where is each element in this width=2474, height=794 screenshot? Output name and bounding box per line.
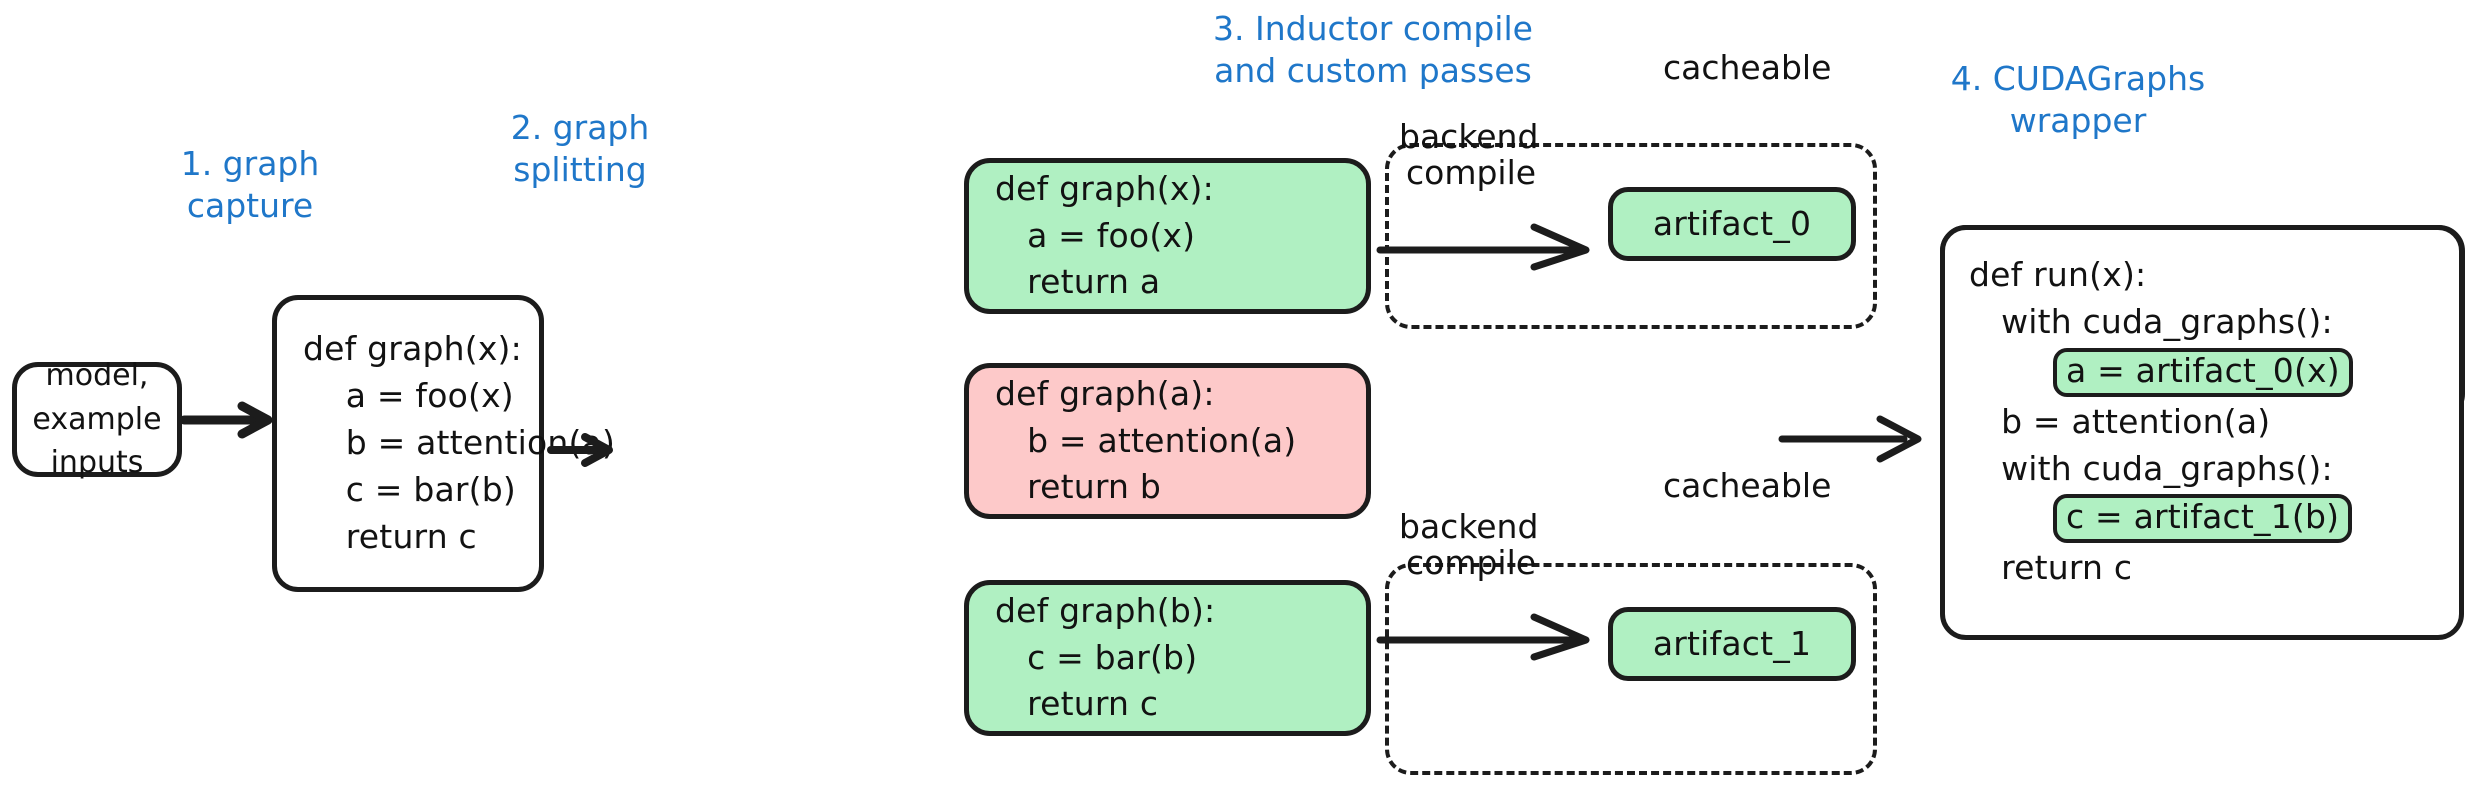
runtime-line-attention: b = attention(a): [1945, 399, 2459, 446]
node-subgraph-foo-line-3: return a: [969, 259, 1366, 306]
arrow-to-runtime: [1782, 409, 1942, 469]
runtime-highlight-row-2: c = artifact_1(b): [1945, 492, 2459, 545]
runtime-line-artifact-1-call: c = artifact_1(b): [2053, 494, 2352, 543]
node-subgraph-foo-line-2: a = foo(x): [969, 213, 1366, 260]
diagram-canvas: 1. graph capture 2. graph splitting 3. I…: [0, 0, 2474, 794]
node-artifact-0-label: artifact_0: [1613, 201, 1851, 248]
node-full-graph-line-3: b = attention(a): [277, 420, 539, 467]
node-subgraph-bar-line-1: def graph(b):: [969, 588, 1366, 635]
node-subgraph-attention-line-1: def graph(a):: [969, 371, 1366, 418]
edge-label-compile-top: compile: [1406, 153, 1536, 192]
node-subgraph-attention-line-3: return b: [969, 464, 1366, 511]
runtime-line-with-cudagraphs-1: with cuda_graphs():: [1945, 299, 2459, 346]
node-model-example-inputs-text: model, example inputs: [17, 354, 177, 485]
node-model-example-inputs: model, example inputs: [12, 362, 182, 477]
node-artifact-0: artifact_0: [1608, 187, 1856, 261]
node-subgraph-attention-line-2: b = attention(a): [969, 418, 1366, 465]
node-artifact-1-label: artifact_1: [1613, 621, 1851, 668]
node-subgraph-attention: def graph(a): b = attention(a) return b: [964, 363, 1371, 519]
runtime-line-return: return c: [1945, 545, 2459, 592]
stage-label-inductor-compile: 3. Inductor compile and custom passes: [1158, 8, 1588, 92]
node-artifact-1: artifact_1: [1608, 607, 1856, 681]
edge-label-backend-bottom: backend: [1399, 507, 1538, 546]
node-full-graph: def graph(x): a = foo(x) b = attention(a…: [272, 295, 544, 592]
stage-label-graph-splitting: 2. graph splitting: [480, 107, 680, 191]
runtime-highlight-row-1: a = artifact_0(x): [1945, 346, 2459, 399]
stage-label-cudagraphs-wrapper: 4. CUDAGraphs wrapper: [1878, 58, 2278, 142]
edge-label-backend-top: backend: [1399, 117, 1538, 156]
node-subgraph-bar-line-3: return c: [969, 681, 1366, 728]
runtime-line-artifact-0-call: a = artifact_0(x): [2053, 348, 2353, 397]
group-cacheable-top-label: cacheable: [1663, 48, 1831, 87]
runtime-line-with-cudagraphs-2: with cuda_graphs():: [1945, 446, 2459, 493]
node-runtime-final: def run(x): with cuda_graphs(): a = arti…: [1940, 225, 2464, 640]
node-subgraph-foo: def graph(x): a = foo(x) return a: [964, 158, 1371, 314]
group-cacheable-bottom-label: cacheable: [1663, 466, 1831, 505]
node-full-graph-line-4: c = bar(b): [277, 467, 539, 514]
arrow-input-to-fullgraph: [184, 400, 280, 440]
node-subgraph-bar-line-2: c = bar(b): [969, 635, 1366, 682]
node-subgraph-bar: def graph(b): c = bar(b) return c: [964, 580, 1371, 736]
node-full-graph-line-5: return c: [277, 514, 539, 561]
node-full-graph-line-1: def graph(x):: [277, 326, 539, 373]
runtime-line-def: def run(x):: [1945, 252, 2459, 299]
node-full-graph-line-2: a = foo(x): [277, 373, 539, 420]
node-subgraph-foo-line-1: def graph(x):: [969, 166, 1366, 213]
edge-label-compile-bottom: compile: [1406, 543, 1536, 582]
stage-label-graph-capture: 1. graph capture: [150, 143, 350, 227]
